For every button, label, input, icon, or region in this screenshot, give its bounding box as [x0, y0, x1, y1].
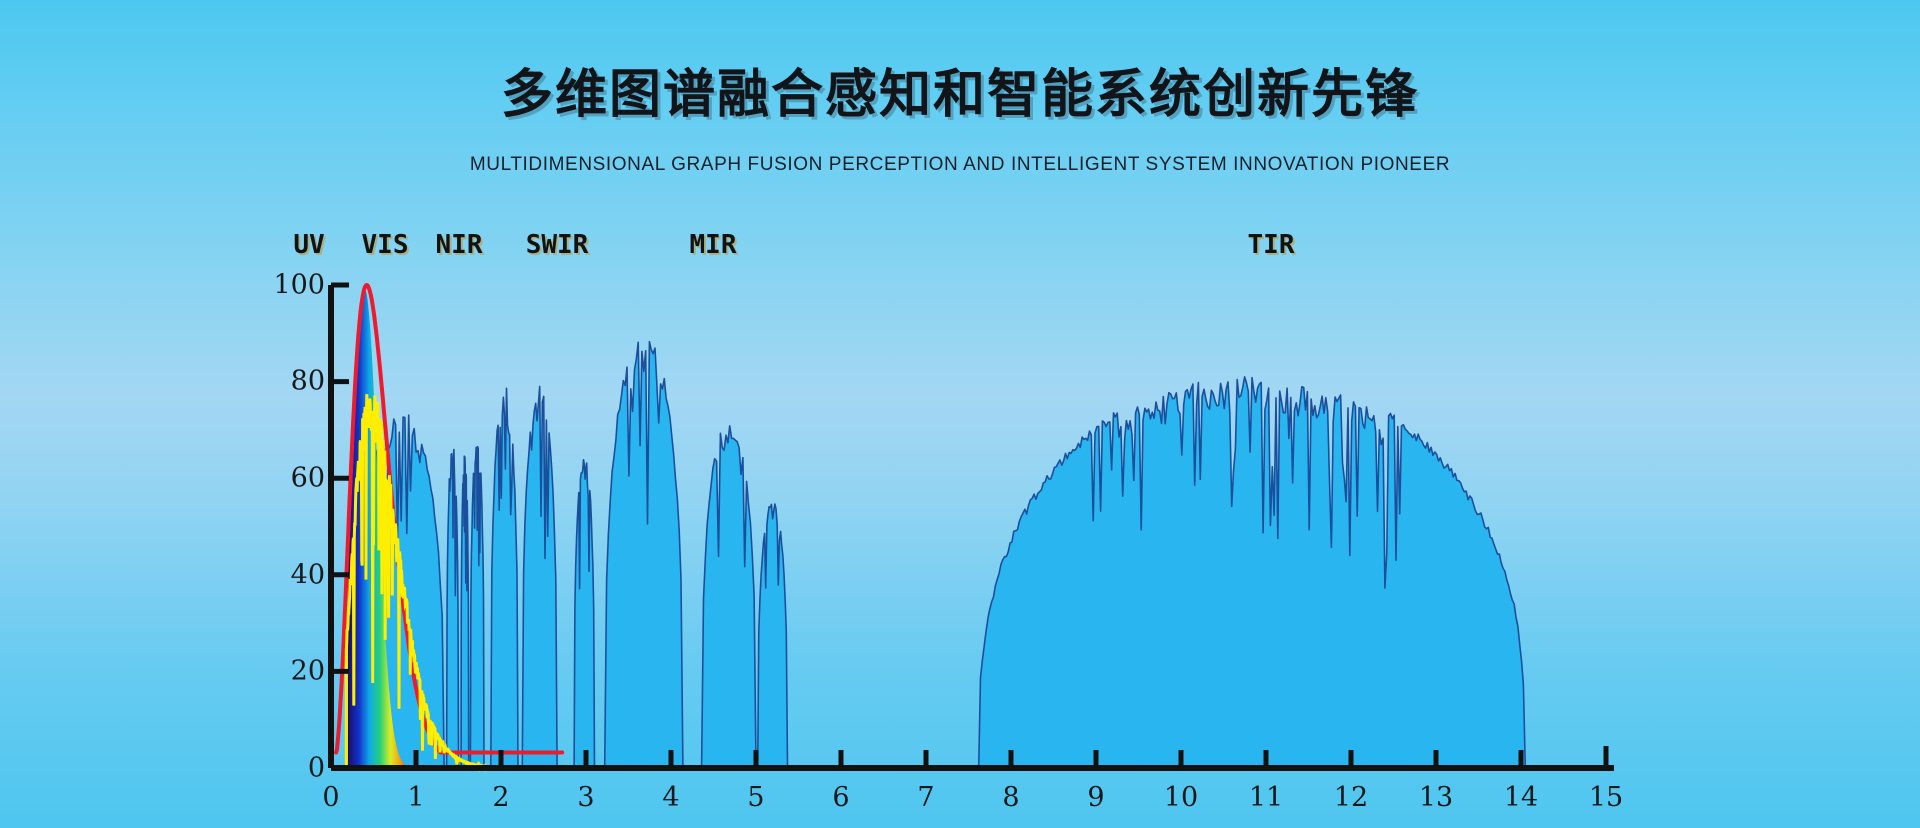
spectral-chart	[0, 0, 1920, 828]
poster-root: 多维图谱融合感知和智能系统创新先锋 MULTIDIMENSIONAL GRAPH…	[0, 0, 1920, 828]
